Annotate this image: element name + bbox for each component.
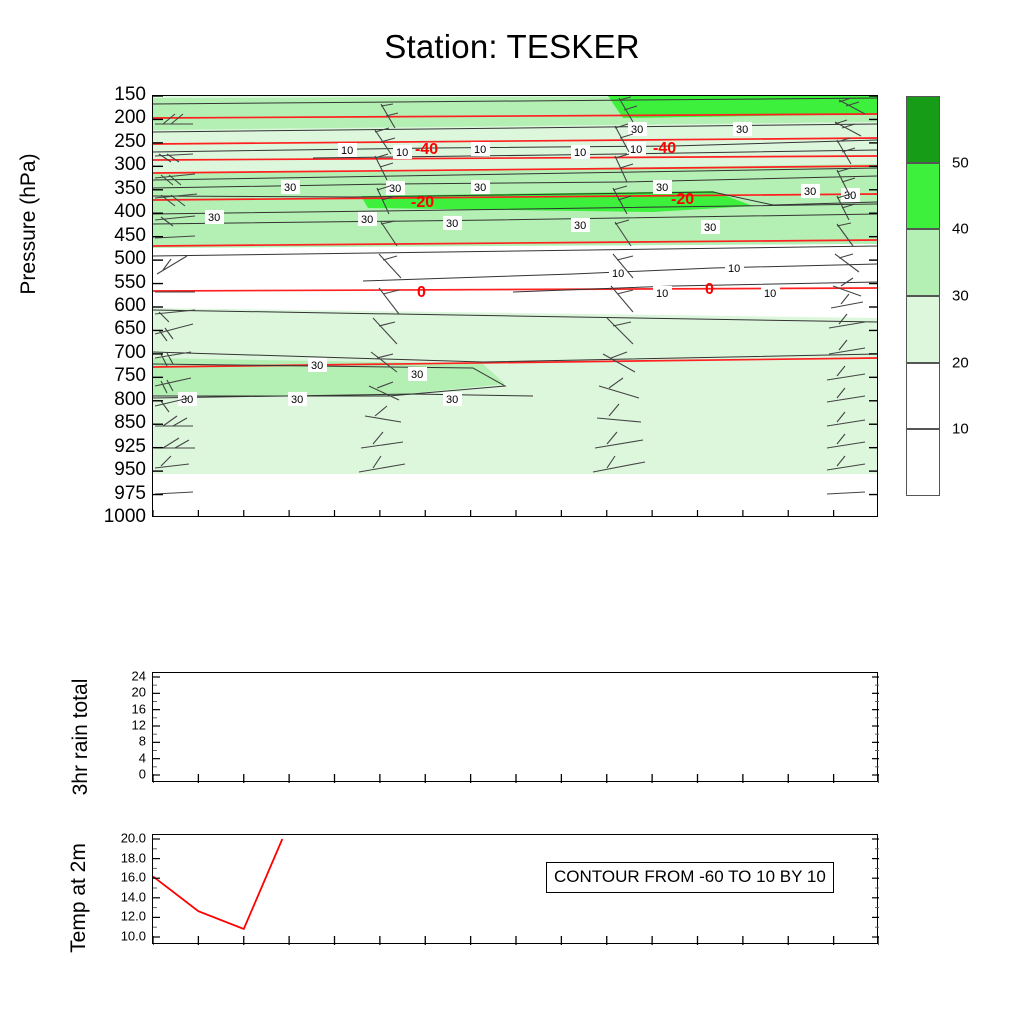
page-title: Station: TESKER <box>0 28 1024 66</box>
contour-label-30: 30 <box>308 358 327 372</box>
contour-label-30: 30 <box>178 392 197 406</box>
main-plot-canvas: 10 10 10 10 10 30 30 30 30 30 30 30 30 3… <box>153 96 878 517</box>
svg-text:30: 30 <box>361 214 373 226</box>
colorbar-tick-label: 50 <box>952 154 969 171</box>
svg-text:30: 30 <box>656 182 668 194</box>
svg-text:30: 30 <box>446 218 458 230</box>
svg-text:10: 10 <box>656 288 668 300</box>
svg-text:30: 30 <box>208 212 220 224</box>
contour-label-10: 10 <box>338 143 357 157</box>
contour-label-10: 10 <box>725 261 744 275</box>
svg-text:30: 30 <box>284 182 296 194</box>
axis-tick-label: 12.0 <box>121 909 146 924</box>
colorbar-segment <box>906 229 940 296</box>
pressure-tick-label: 300 <box>114 154 146 176</box>
isotherm-label-zero: 0 <box>705 281 714 298</box>
colorbar-segment <box>906 429 940 496</box>
axis-tick-label: 10.0 <box>121 929 146 944</box>
contour-label-30: 30 <box>408 367 427 381</box>
contour-label-30: 30 <box>571 218 590 232</box>
pressure-tick-label: 600 <box>114 295 146 317</box>
svg-text:30: 30 <box>474 182 486 194</box>
pressure-tick-label: 950 <box>114 459 146 481</box>
pressure-tick-label: 150 <box>114 84 146 106</box>
contour-label-10: 10 <box>761 286 780 300</box>
pressure-tick-label: 400 <box>114 201 146 223</box>
axis-tick-label: 20.0 <box>121 831 146 846</box>
contour-label-30: 30 <box>205 210 224 224</box>
isotherm-label-zero: 0 <box>417 284 426 301</box>
svg-text:10: 10 <box>341 145 353 157</box>
rain-panel-ylabel: 3hr rain total <box>69 652 93 822</box>
pressure-tick-label: 550 <box>114 272 146 294</box>
colorbar-tick-label: 20 <box>952 354 969 371</box>
colorbar-tick-label: 30 <box>952 288 969 305</box>
colorbar-segment <box>906 163 940 230</box>
wind-speed-colorbar: 5040302010 <box>906 96 940 496</box>
pressure-tick-label: 850 <box>114 412 146 434</box>
svg-text:10: 10 <box>728 263 740 275</box>
colorbar-segment <box>906 296 940 363</box>
contour-label-10: 10 <box>653 286 672 300</box>
contour-label-10: 10 <box>571 145 590 159</box>
contour-label-30: 30 <box>443 216 462 230</box>
colorbar-segment <box>906 363 940 430</box>
svg-text:30: 30 <box>446 394 458 406</box>
contour-label-10: 10 <box>471 142 490 156</box>
contour-label-30: 30 <box>733 122 752 136</box>
contour-label-10: 10 <box>627 142 646 156</box>
contour-label-30: 30 <box>443 392 462 406</box>
axis-tick-label: 4 <box>139 750 146 765</box>
axis-tick-label: 20 <box>132 685 146 700</box>
svg-text:30: 30 <box>291 394 303 406</box>
pressure-tick-label: 1000 <box>104 506 146 528</box>
isotherm-label-minus20: -20 <box>671 191 694 208</box>
svg-text:10: 10 <box>764 288 776 300</box>
pressure-tick-label: 750 <box>114 365 146 387</box>
contour-label-30: 30 <box>801 184 820 198</box>
contour-label-30: 30 <box>358 212 377 226</box>
pressure-tick-label: 925 <box>114 436 146 458</box>
isotherm-label-minus40: -40 <box>653 140 676 157</box>
rain-plot-canvas <box>153 673 879 783</box>
svg-text:10: 10 <box>474 144 486 156</box>
pressure-tick-label: 700 <box>114 342 146 364</box>
svg-text:30: 30 <box>804 186 816 198</box>
axis-tick-label: 16.0 <box>121 870 146 885</box>
svg-text:30: 30 <box>311 360 323 372</box>
pressure-tick-label: 800 <box>114 389 146 411</box>
temp-panel-ylabel: Temp at 2m <box>67 813 91 983</box>
main-yaxis-title: Pressure (hPa) <box>17 109 41 339</box>
main-plot-frame: 10 10 10 10 10 30 30 30 30 30 30 30 30 3… <box>152 95 878 517</box>
contour-label-30: 30 <box>628 122 647 136</box>
axis-tick-label: 24 <box>132 669 146 684</box>
axis-tick-label: 14.0 <box>121 889 146 904</box>
wind-cross-section-panel: 10 10 10 10 10 30 30 30 30 30 30 30 30 3… <box>152 95 878 517</box>
svg-text:30: 30 <box>411 369 423 381</box>
contour-label-30: 30 <box>701 220 720 234</box>
svg-text:30: 30 <box>574 220 586 232</box>
pressure-tick-label: 200 <box>114 107 146 129</box>
contour-label-10: 10 <box>393 145 412 159</box>
contour-label-30: 30 <box>281 180 300 194</box>
svg-text:10: 10 <box>396 147 408 159</box>
pressure-tick-label: 250 <box>114 131 146 153</box>
colorbar-tick-label: 40 <box>952 221 969 238</box>
contour-annotation: CONTOUR FROM -60 TO 10 BY 10 <box>546 862 834 893</box>
axis-tick-label: 12 <box>132 718 146 733</box>
svg-text:10: 10 <box>630 144 642 156</box>
pressure-tick-label: 350 <box>114 178 146 200</box>
contour-label-30: 30 <box>386 181 405 195</box>
svg-text:30: 30 <box>389 183 401 195</box>
pressure-tick-label: 975 <box>114 483 146 505</box>
contour-label-30: 30 <box>841 188 860 202</box>
axis-tick-label: 18.0 <box>121 850 146 865</box>
pressure-tick-label: 450 <box>114 225 146 247</box>
axis-tick-label: 16 <box>132 701 146 716</box>
pressure-tick-label: 650 <box>114 318 146 340</box>
svg-text:10: 10 <box>574 147 586 159</box>
rain-total-panel <box>152 672 878 782</box>
contour-label-30: 30 <box>288 392 307 406</box>
svg-text:30: 30 <box>704 222 716 234</box>
colorbar-segment <box>906 96 940 163</box>
axis-tick-label: 8 <box>139 734 146 749</box>
svg-text:30: 30 <box>736 124 748 136</box>
pressure-tick-label: 500 <box>114 248 146 270</box>
temp-2m-line <box>153 839 282 929</box>
svg-text:10: 10 <box>612 268 624 280</box>
contour-label-30: 30 <box>471 180 490 194</box>
colorbar-tick-label: 10 <box>952 421 969 438</box>
axis-tick-label: 0 <box>139 767 146 782</box>
isotherm-label-minus40: -40 <box>415 141 438 158</box>
contour-label-30: 30 <box>653 180 672 194</box>
isotherm-label-minus20: -20 <box>411 194 434 211</box>
